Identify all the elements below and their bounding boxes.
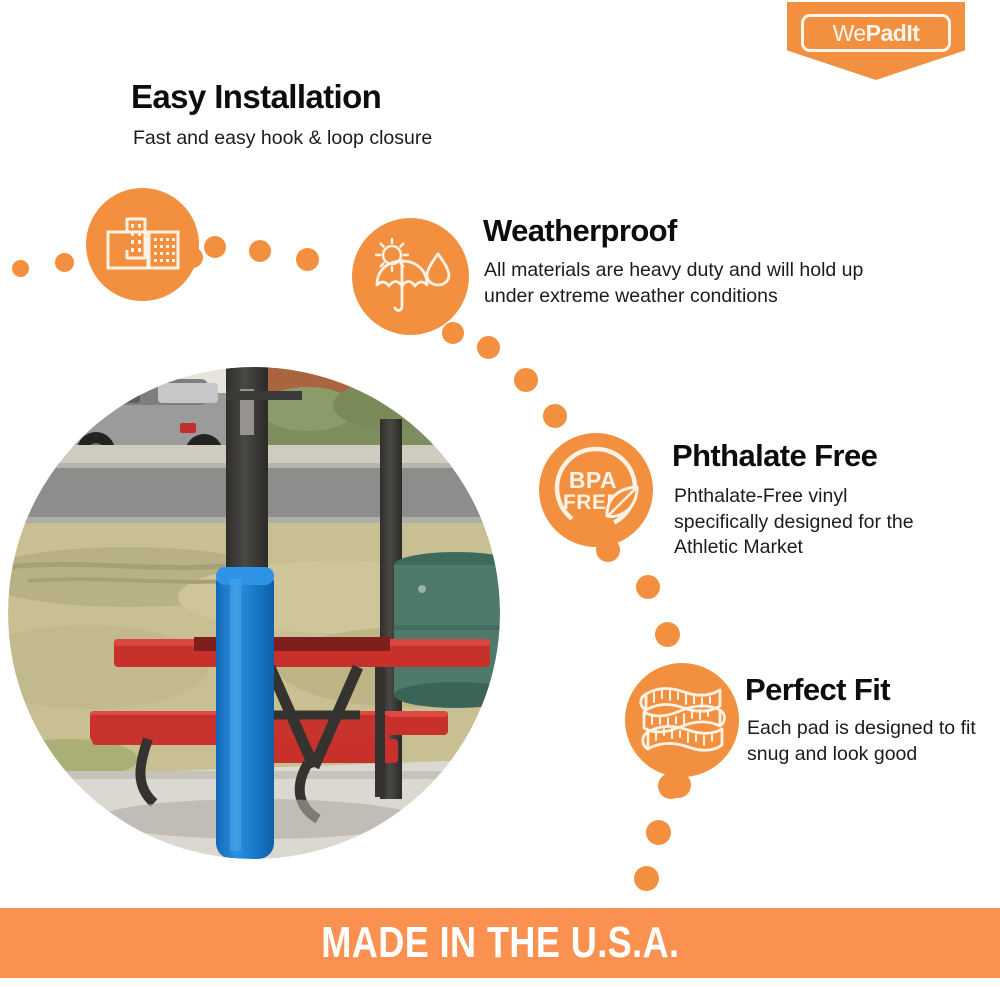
trail-dot <box>655 622 680 647</box>
logo-text-we: We <box>833 20 866 46</box>
trail-dot <box>204 236 226 258</box>
trail-dot <box>55 253 74 272</box>
trail-dot <box>477 336 500 359</box>
product-photo-scene <box>8 367 500 859</box>
trail-dot <box>543 404 567 428</box>
feature-title-weatherproof: Weatherproof <box>483 215 677 248</box>
made-in-usa-banner: MADE IN THE U.S.A. <box>0 908 1000 978</box>
feature-title-perfect-fit: Perfect Fit <box>745 674 890 707</box>
feature-title-phthalate-free: Phthalate Free <box>672 440 877 473</box>
trail-dot <box>249 240 271 262</box>
trail-dot <box>636 575 660 599</box>
logo-outline-box: WePadIt <box>801 14 951 52</box>
hook-and-loop-icon <box>86 188 199 301</box>
trail-dot <box>12 260 29 277</box>
feature-body-perfect-fit: Each pad is designed to fit snug and loo… <box>747 716 987 767</box>
svg-text:BPA: BPA <box>569 467 617 493</box>
trail-dot <box>296 248 319 271</box>
logo-text-it: It <box>906 20 919 46</box>
measuring-tape-icon-glyph <box>636 674 728 766</box>
feature-body-easy-installation: Fast and easy hook & loop closure <box>133 126 553 152</box>
trail-dot <box>514 368 538 392</box>
bpa-free-leaf-icon-glyph: BPA FREE <box>541 435 651 545</box>
sun-umbrella-raindrop-icon-glyph <box>370 238 452 316</box>
feature-body-weatherproof: All materials are heavy duty and will ho… <box>484 258 914 309</box>
trail-dot <box>442 322 464 344</box>
hook-and-loop-icon-glyph <box>105 214 181 276</box>
logo-text: WePadIt <box>833 22 920 45</box>
brand-logo: WePadIt <box>787 2 965 80</box>
product-photo <box>8 367 500 859</box>
bpa-free-leaf-icon: BPA FREE <box>539 433 653 547</box>
sun-umbrella-raindrop-icon <box>352 218 469 335</box>
infographic-canvas: WePadIt Easy Installation Fast and easy … <box>0 0 1000 987</box>
feature-title-easy-installation: Easy Installation <box>131 80 381 115</box>
measuring-tape-icon <box>625 663 739 777</box>
trail-dot <box>665 772 691 798</box>
logo-text-pad: Pad <box>866 20 907 46</box>
trail-dot <box>634 866 659 891</box>
feature-body-phthalate-free: Phthalate-Free vinyl specifically design… <box>674 484 944 561</box>
trail-dot <box>646 820 671 845</box>
made-in-usa-text: MADE IN THE U.S.A. <box>321 921 679 965</box>
